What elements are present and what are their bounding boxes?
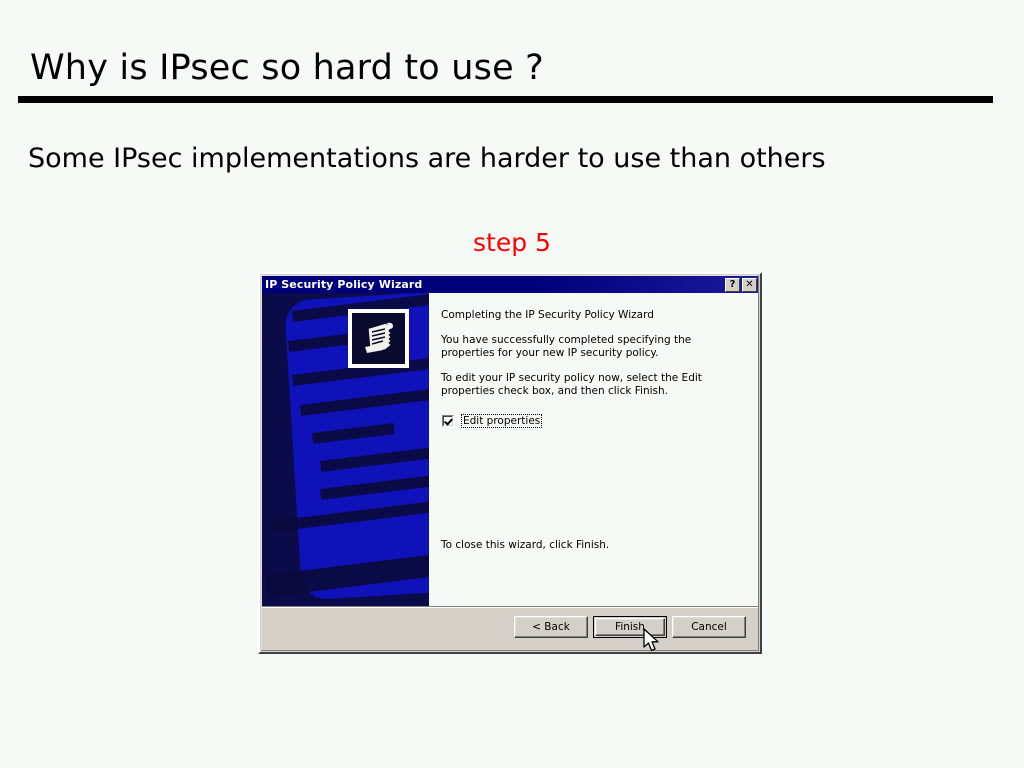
wizard-paragraph-1: You have successfully completed specifyi…: [441, 334, 731, 360]
cancel-button-label: Cancel: [691, 621, 727, 633]
button-bar-separator: [262, 606, 758, 608]
wizard-closing-text: To close this wizard, click Finish.: [441, 539, 609, 551]
wizard-page: Completing the IP Security Policy Wizard…: [262, 293, 758, 610]
page-title: Why is IPsec so hard to use ?: [30, 48, 544, 88]
edit-properties-checkbox-row[interactable]: Edit properties: [441, 413, 544, 429]
title-divider: [18, 96, 993, 103]
wizard-banner: [262, 293, 429, 610]
finish-button-label: Finish: [615, 621, 645, 633]
back-button[interactable]: < Back: [514, 616, 588, 638]
dialog-title-text: IP Security Policy Wizard: [265, 278, 723, 291]
finish-button-face: Finish: [595, 618, 665, 636]
cancel-button[interactable]: Cancel: [672, 616, 746, 638]
wizard-paragraph-2: To edit your IP security policy now, sel…: [441, 372, 731, 398]
scroll-document-icon: [352, 313, 405, 364]
edit-properties-label: Edit properties: [461, 414, 542, 428]
wizard-heading: Completing the IP Security Policy Wizard: [441, 309, 746, 321]
close-icon[interactable]: ✕: [742, 278, 757, 292]
finish-button[interactable]: Finish: [593, 616, 667, 638]
ip-security-policy-wizard-dialog: IP Security Policy Wizard ? ✕: [258, 272, 762, 654]
button-row: < Back Finish Cancel: [509, 616, 746, 638]
back-button-label: < Back: [532, 621, 570, 633]
wizard-content: Completing the IP Security Policy Wizard…: [429, 293, 758, 609]
slide-subtitle: Some IPsec implementations are harder to…: [28, 143, 826, 174]
step-label: step 5: [0, 228, 1024, 257]
checkbox-checked-icon[interactable]: [442, 415, 454, 427]
banner-icon-frame: [348, 309, 409, 368]
help-button[interactable]: ?: [725, 278, 740, 292]
dialog-button-bar: < Back Finish Cancel: [262, 606, 758, 650]
dialog-client-area: Completing the IP Security Policy Wizard…: [262, 293, 758, 650]
dialog-title-bar[interactable]: IP Security Policy Wizard ? ✕: [262, 276, 758, 293]
